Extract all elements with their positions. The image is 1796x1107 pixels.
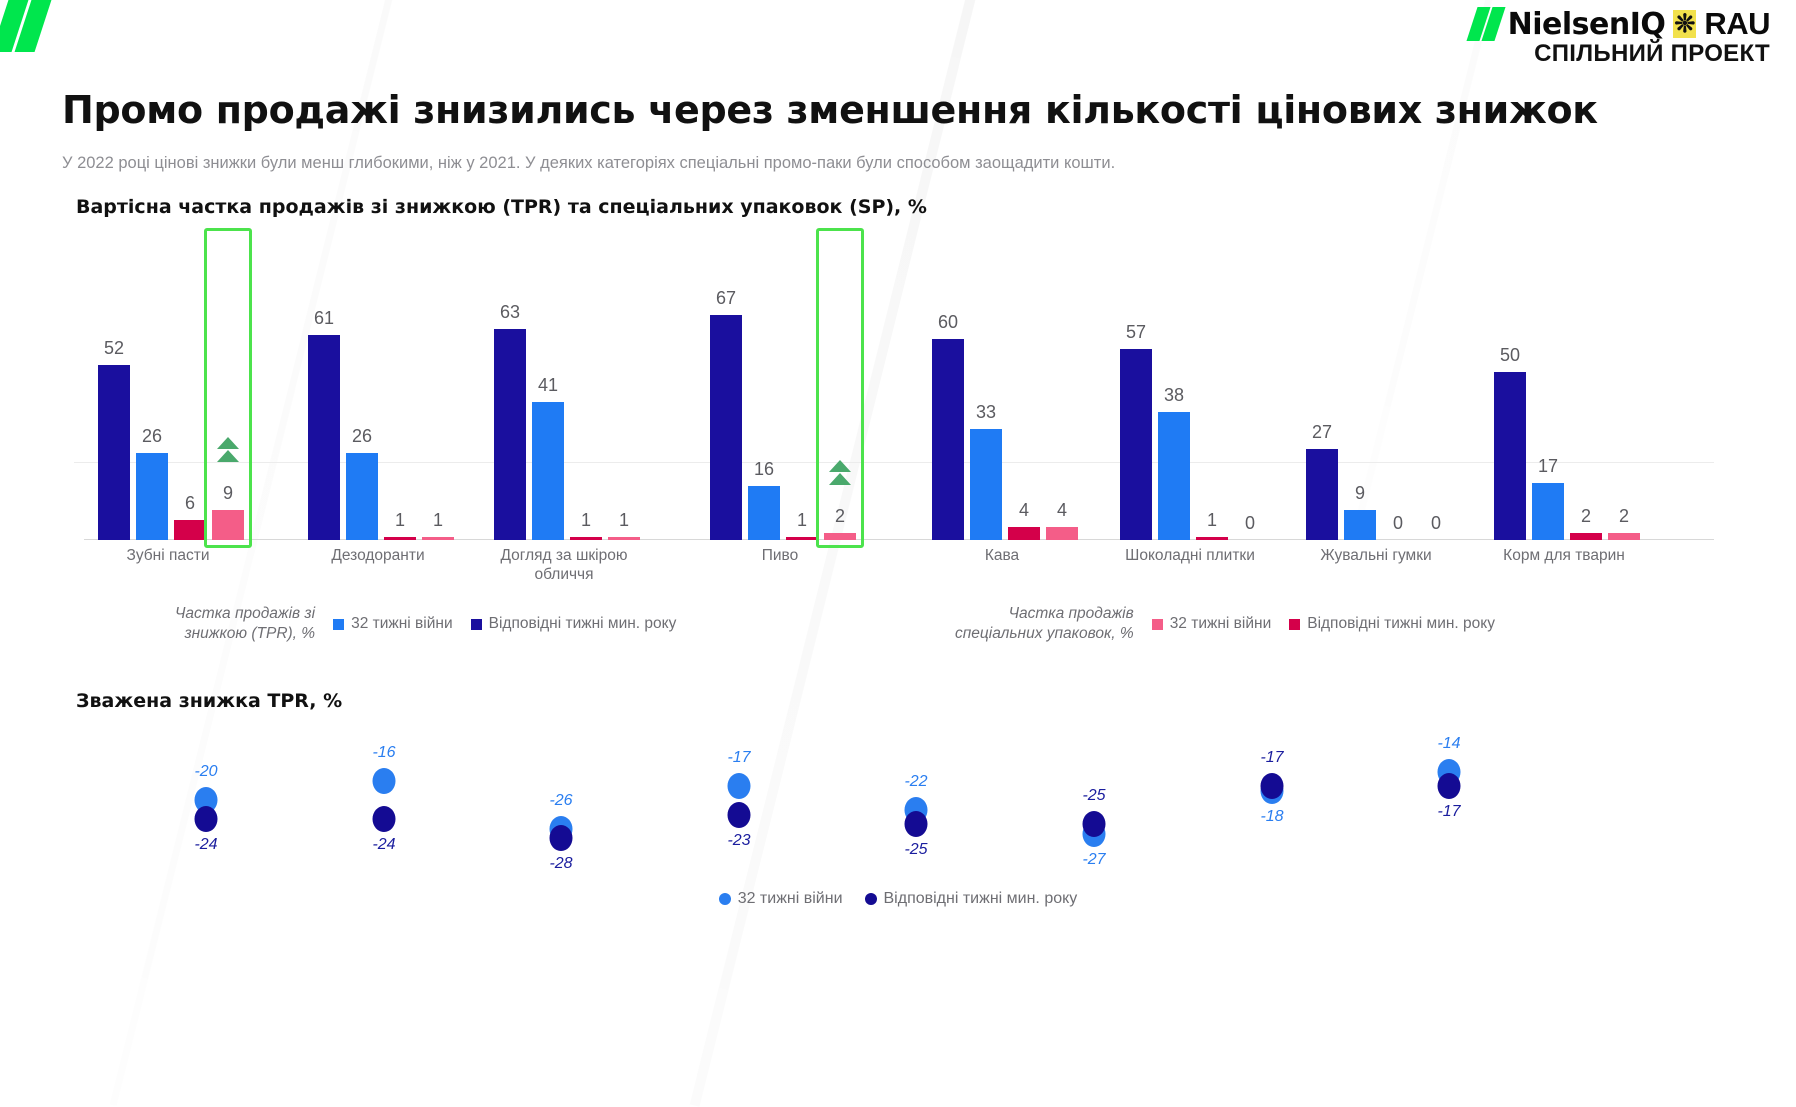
- bar: [1344, 510, 1376, 540]
- dot-prev-year[interactable]: [1438, 773, 1461, 799]
- bar: [1532, 483, 1564, 540]
- bar-group: 522669: [98, 250, 244, 540]
- bar-value-label: 1: [395, 510, 405, 531]
- dot-value-label-bottom: -24: [194, 836, 217, 854]
- dot-value-label-bottom: -17: [1437, 803, 1460, 821]
- bar-group: 603344: [932, 250, 1078, 540]
- bar: [494, 329, 526, 541]
- bar-column[interactable]: 2: [1608, 250, 1640, 540]
- bar-value-label: 33: [976, 402, 996, 423]
- bar-column[interactable]: 1: [1196, 250, 1228, 540]
- bar-group: 634111: [494, 250, 640, 540]
- dot-value-label-bottom: -24: [372, 836, 395, 854]
- bar-column[interactable]: 61: [308, 250, 340, 540]
- dot-legend-item-prev[interactable]: Відповідні тижні мин. року: [865, 890, 1078, 908]
- bar-column[interactable]: 2: [824, 250, 856, 540]
- bar: [1120, 349, 1152, 540]
- bar: [1306, 449, 1338, 540]
- dot-group: -22-25: [896, 736, 936, 866]
- dot-prev-year[interactable]: [905, 811, 928, 837]
- logo-subtitle: СПІЛЬНИЙ ПРОЕКТ: [1534, 40, 1770, 68]
- dot-value-label-top: -25: [1082, 787, 1105, 805]
- bar: [98, 365, 130, 540]
- bar-chart-heading: Вартісна частка продажів зі знижкою (TPR…: [76, 196, 927, 218]
- bar: [422, 537, 454, 540]
- nielseniq-wordmark: NielsenIQ: [1508, 7, 1666, 42]
- bar: [970, 429, 1002, 540]
- logo-row: NielsenIQ ❊ RAU: [1472, 6, 1770, 42]
- bar-column[interactable]: 1: [786, 250, 818, 540]
- dot-legend-item-war[interactable]: 32 тижні війни: [719, 890, 843, 908]
- legend-swatch-crimson-icon: [1289, 619, 1300, 630]
- sp-legend-title: Частка продажів спеціальних упаковок, %: [955, 604, 1134, 644]
- dot-group: -26-28: [541, 736, 581, 866]
- bar-column[interactable]: 60: [932, 250, 964, 540]
- bar-column[interactable]: 50: [1494, 250, 1526, 540]
- bar-column[interactable]: 2: [1570, 250, 1602, 540]
- bar-category-label: Догляд за шкіроюобличчя: [470, 546, 658, 584]
- dot-value-label-top: -17: [1260, 749, 1283, 767]
- bar-value-label: 4: [1057, 500, 1067, 521]
- dot-chart: -20-24-16-24-26-28-17-23-22-25-25-27-17-…: [74, 736, 1714, 866]
- dot-chart-legend: 32 тижні війни Відповідні тижні мин. рок…: [0, 890, 1796, 908]
- bar-category-label: Жувальні гумки: [1282, 546, 1470, 565]
- bar-value-label: 6: [185, 493, 195, 514]
- bar: [1494, 372, 1526, 540]
- dot-value-label-bottom: -23: [727, 832, 750, 850]
- bar-value-label: 2: [1581, 506, 1591, 527]
- bar: [932, 339, 964, 540]
- bar-value-label: 4: [1019, 500, 1029, 521]
- bar-column[interactable]: 52: [98, 250, 130, 540]
- bar-category-label: Шоколадні плитки: [1096, 546, 1284, 565]
- snowflake-icon: ❊: [1673, 10, 1696, 38]
- bar: [608, 537, 640, 540]
- dot-value-label-bottom: -27: [1082, 851, 1105, 869]
- bar-category-label: Дезодоранти: [284, 546, 472, 565]
- dot-value-label-top: -26: [549, 792, 572, 810]
- bar-column[interactable]: 17: [1532, 250, 1564, 540]
- bar-column[interactable]: 0: [1382, 250, 1414, 540]
- bar-column[interactable]: 4: [1046, 250, 1078, 540]
- bar: [710, 315, 742, 540]
- legend-dot-navy-icon: [865, 893, 877, 905]
- bar-value-label: 57: [1126, 322, 1146, 343]
- bar-column[interactable]: 1: [608, 250, 640, 540]
- nielseniq-mark-icon: [1472, 7, 1500, 41]
- bar-column[interactable]: 0: [1420, 250, 1452, 540]
- brand-corner-mark: [0, 0, 43, 52]
- bar: [1196, 537, 1228, 540]
- dot-value-label-top: -22: [904, 773, 927, 791]
- sp-legend: Частка продажів спеціальних упаковок, % …: [955, 604, 1495, 644]
- dot-prev-year[interactable]: [550, 825, 573, 851]
- bar-column[interactable]: 27: [1306, 250, 1338, 540]
- bar-value-label: 52: [104, 338, 124, 359]
- bar-column[interactable]: 63: [494, 250, 526, 540]
- legend-item-war-sp[interactable]: 32 тижні війни: [1152, 615, 1272, 633]
- dot-prev-year[interactable]: [195, 806, 218, 832]
- bar-column[interactable]: 38: [1158, 250, 1190, 540]
- legend-item-prev-sp[interactable]: Відповідні тижні мин. року: [1289, 615, 1495, 633]
- bar-value-label: 61: [314, 308, 334, 329]
- legend-swatch-navy-icon: [471, 619, 482, 630]
- bar: [308, 335, 340, 540]
- bar-column[interactable]: 16: [748, 250, 780, 540]
- bar-column[interactable]: 9: [212, 250, 244, 540]
- bar-value-label: 1: [1207, 510, 1217, 531]
- bar-value-label: 1: [619, 510, 629, 531]
- bar-column[interactable]: 0: [1234, 250, 1266, 540]
- legend-item-prev-tpr[interactable]: Відповідні тижні мин. року: [471, 615, 677, 633]
- bar-value-label: 2: [835, 506, 845, 527]
- bar-value-label: 67: [716, 288, 736, 309]
- bar-value-label: 0: [1393, 513, 1403, 534]
- dot-prev-year[interactable]: [1261, 773, 1284, 799]
- dot-value-label-top: -20: [194, 763, 217, 781]
- bar-category-label: Пиво: [686, 546, 874, 565]
- bar-column[interactable]: 57: [1120, 250, 1152, 540]
- bar: [1570, 533, 1602, 540]
- dot-prev-year[interactable]: [1083, 811, 1106, 837]
- bar-group: 671612: [710, 250, 856, 540]
- bar: [384, 537, 416, 540]
- bar: [1608, 533, 1640, 540]
- bar-value-label: 50: [1500, 345, 1520, 366]
- bar-value-label: 1: [581, 510, 591, 531]
- bar-value-label: 9: [1355, 483, 1365, 504]
- bar-column[interactable]: 67: [710, 250, 742, 540]
- bar: [532, 402, 564, 540]
- bar: [1158, 412, 1190, 540]
- bar-value-label: 9: [223, 483, 233, 504]
- bar-group: 501722: [1494, 250, 1640, 540]
- dot-chart-heading: Зважена знижка TPR, %: [76, 690, 342, 712]
- bar: [1008, 527, 1040, 540]
- bar-value-label: 16: [754, 459, 774, 480]
- bar: [748, 486, 780, 540]
- bar-group: 573810: [1120, 250, 1266, 540]
- bar-category-label: Зубні пасти: [74, 546, 262, 565]
- dot-prev-year[interactable]: [373, 806, 396, 832]
- logo-block: NielsenIQ ❊ RAU СПІЛЬНИЙ ПРОЕКТ: [1472, 6, 1770, 68]
- dot-war[interactable]: [373, 768, 396, 794]
- increase-arrow-icon: [217, 437, 239, 462]
- dot-group: -16-24: [364, 736, 404, 866]
- bar-column[interactable]: 9: [1344, 250, 1376, 540]
- tpr-legend-title: Частка продажів зі знижкою (TPR), %: [175, 604, 315, 644]
- dot-group: -25-27: [1074, 736, 1114, 866]
- bar: [136, 453, 168, 540]
- bar-value-label: 38: [1164, 385, 1184, 406]
- legend-item-war-tpr[interactable]: 32 тижні війни: [333, 615, 453, 633]
- dot-prev-year[interactable]: [728, 802, 751, 828]
- bar-value-label: 0: [1431, 513, 1441, 534]
- bar-value-label: 1: [797, 510, 807, 531]
- bar-group: 27900: [1306, 250, 1452, 540]
- dot-value-label-top: -16: [372, 744, 395, 762]
- rau-wordmark: RAU: [1704, 6, 1770, 42]
- bar-value-label: 0: [1245, 513, 1255, 534]
- bar-value-label: 41: [538, 375, 558, 396]
- page-subtitle: У 2022 році цінові знижки були менш глиб…: [62, 154, 1115, 173]
- legend-swatch-pink-icon: [1152, 619, 1163, 630]
- page-title: Промо продажі знизились через зменшення …: [62, 88, 1598, 132]
- bar: [824, 533, 856, 540]
- tpr-legend: Частка продажів зі знижкою (TPR), % 32 т…: [175, 604, 676, 644]
- dot-war[interactable]: [728, 773, 751, 799]
- bar-column[interactable]: 4: [1008, 250, 1040, 540]
- dot-value-label-top: -17: [727, 749, 750, 767]
- bar-value-label: 1: [433, 510, 443, 531]
- bar-column[interactable]: 26: [346, 250, 378, 540]
- bar-group: 612611: [308, 250, 454, 540]
- bar-chart: 522669Зубні пасти612611Дезодоранти634111…: [74, 250, 1714, 540]
- bar: [346, 453, 378, 540]
- bar: [570, 537, 602, 540]
- bar-column[interactable]: 1: [384, 250, 416, 540]
- dot-value-label-bottom: -25: [904, 841, 927, 859]
- dot-group: -14-17: [1429, 736, 1469, 866]
- dot-value-label-top: -14: [1437, 735, 1460, 753]
- legend-dot-blue-icon: [719, 893, 731, 905]
- dot-value-label-bottom: -18: [1260, 808, 1283, 826]
- bar-column[interactable]: 6: [174, 250, 206, 540]
- bar-value-label: 27: [1312, 422, 1332, 443]
- bar-value-label: 2: [1619, 506, 1629, 527]
- bar-column[interactable]: 26: [136, 250, 168, 540]
- dot-group: -20-24: [186, 736, 226, 866]
- bar-value-label: 26: [142, 426, 162, 447]
- bar-value-label: 63: [500, 302, 520, 323]
- dot-group: -17-18: [1252, 736, 1292, 866]
- legend-swatch-blue-icon: [333, 619, 344, 630]
- bar-value-label: 60: [938, 312, 958, 333]
- bar-column[interactable]: 33: [970, 250, 1002, 540]
- increase-arrow-icon: [829, 460, 851, 485]
- dot-value-label-bottom: -28: [549, 855, 572, 873]
- bar-category-label: Корм для тварин: [1470, 546, 1658, 565]
- bar: [1046, 527, 1078, 540]
- bar: [786, 537, 818, 540]
- bar: [174, 520, 206, 540]
- bar-column[interactable]: 41: [532, 250, 564, 540]
- bar-value-label: 26: [352, 426, 372, 447]
- bar-value-label: 17: [1538, 456, 1558, 477]
- bar-category-label: Кава: [908, 546, 1096, 565]
- bar-column[interactable]: 1: [570, 250, 602, 540]
- bar-column[interactable]: 1: [422, 250, 454, 540]
- bar: [212, 510, 244, 540]
- dot-group: -17-23: [719, 736, 759, 866]
